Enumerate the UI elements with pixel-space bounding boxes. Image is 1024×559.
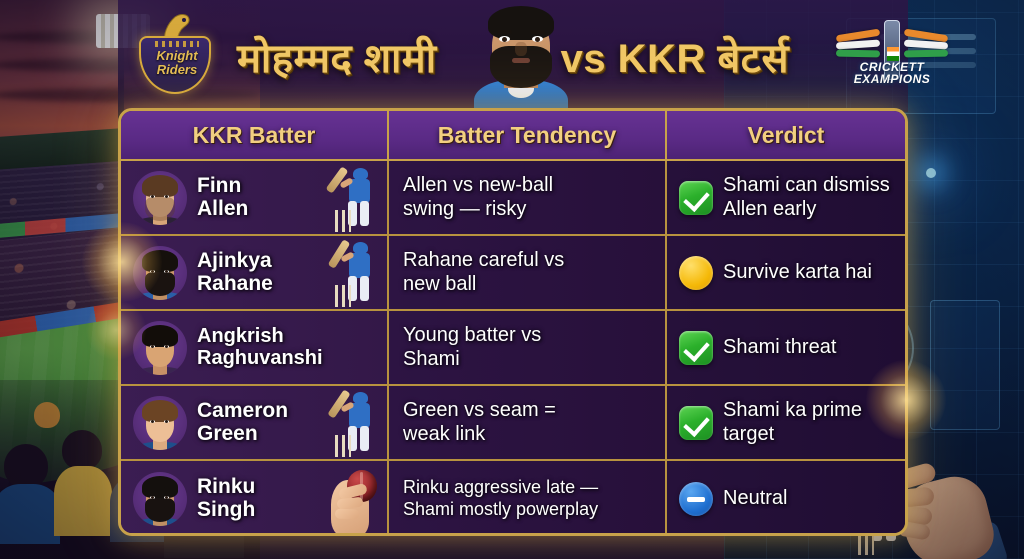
batter-name: Rinku Singh — [197, 476, 255, 521]
tendency-line-1: Allen vs new-ball — [403, 174, 553, 196]
batter-cell: Angkrish Raghuvanshi — [121, 311, 387, 384]
kkr-shield: Knight Riders — [139, 36, 211, 94]
mouth — [512, 58, 530, 63]
hud-panel — [930, 300, 1000, 430]
batsman-icon — [333, 237, 379, 307]
batter-first-name: Rinku — [197, 475, 255, 498]
batter-name: Finn Allen — [197, 175, 248, 220]
batter-name: Ajinkya Rahane — [197, 250, 273, 295]
verdict-line-1: Neutral — [723, 487, 787, 509]
column-header-verdict: Verdict — [667, 111, 905, 159]
spectator-shirt — [0, 484, 60, 544]
hud-glow-node — [926, 168, 936, 178]
batter-cell: Finn Allen — [121, 161, 387, 234]
champions-logo-line2: EXAMPIONS — [836, 72, 948, 86]
india-flag-icon — [887, 47, 899, 61]
kkr-dot-row — [155, 41, 199, 47]
tendency-line-1: Young batter vs — [403, 324, 541, 346]
batsman-icon — [333, 387, 379, 457]
spectator-shirt — [54, 466, 112, 536]
column-header-tendency: Batter Tendency — [387, 111, 667, 159]
infographic-canvas: Knight Riders — [0, 0, 1024, 559]
green-check-icon — [679, 181, 713, 215]
tendency-cell: Rinku aggressive late — Shami mostly pow… — [387, 461, 667, 536]
verdict-text: Shami threat — [723, 336, 836, 360]
avatar — [133, 321, 187, 375]
tendency-line-2: weak link — [403, 423, 485, 445]
shami-portrait — [462, 0, 580, 112]
spectator-head — [34, 402, 60, 428]
table-row: Rinku Singh Rinku aggressive late — Sham… — [121, 461, 905, 536]
kkr-logo: Knight Riders — [129, 12, 221, 100]
table-row: Finn Allen Allen vs new-ball swing — ris… — [121, 161, 905, 236]
batter-first-name: Angkrish — [197, 325, 284, 347]
verdict-cell: Neutral — [667, 461, 905, 536]
hand-holding-ball-icon — [327, 464, 385, 536]
column-header-batter: KKR Batter — [121, 111, 387, 159]
verdict-cell: Shami threat — [667, 311, 905, 384]
batter-name: Cameron Green — [197, 400, 288, 445]
tendency-line-2: new ball — [403, 273, 476, 295]
hair — [488, 6, 554, 40]
verdict-line-2: target — [723, 423, 774, 445]
table-header-row: KKR Batter Batter Tendency Verdict — [121, 111, 905, 161]
batter-last-name: Allen — [197, 197, 248, 220]
batter-name: Angkrish Raghuvanshi — [197, 326, 323, 369]
tendency-text: Rinku aggressive late — Shami mostly pow… — [403, 477, 598, 519]
tendency-cell: Green vs seam = weak link — [387, 386, 667, 459]
batter-first-name: Ajinkya — [197, 249, 272, 272]
verdict-cell: Shami can dismiss Allen early — [667, 161, 905, 234]
batter-cell: Ajinkya Rahane — [121, 236, 387, 309]
verdict-line-1: Shami threat — [723, 336, 836, 358]
table-row: Ajinkya Rahane Rahane careful vs new bal… — [121, 236, 905, 311]
tendency-cell: Allen vs new-ball swing — risky — [387, 161, 667, 234]
tendency-text: Young batter vs Shami — [403, 324, 541, 371]
tendency-text: Allen vs new-ball swing — risky — [403, 174, 553, 221]
table-row: Angkrish Raghuvanshi Young batter vs Sha… — [121, 311, 905, 386]
cricket-champions-logo: CRICKETT EXAMPIONS — [836, 12, 948, 98]
batter-last-name: Green — [197, 422, 258, 445]
verdict-line-2: Allen early — [723, 198, 816, 220]
tendency-cell: Rahane careful vs new ball — [387, 236, 667, 309]
avatar — [133, 246, 187, 300]
tendency-line-1: Green vs seam = — [403, 399, 556, 421]
batter-last-name: Raghuvanshi — [197, 347, 323, 369]
blue-minus-icon — [679, 482, 713, 516]
yellow-circle-icon — [679, 256, 713, 290]
avatar — [133, 472, 187, 526]
verdict-text: Survive karta hai — [723, 261, 872, 285]
tendency-line-2: Shami mostly powerplay — [403, 499, 598, 519]
avatar — [133, 171, 187, 225]
batter-first-name: Finn — [197, 174, 241, 197]
table-row: Cameron Green Green vs seam = weak link — [121, 386, 905, 461]
verdict-text: Shami can dismiss Allen early — [723, 174, 890, 221]
tendency-line-1: Rahane careful vs — [403, 249, 564, 271]
tendency-line-2: Shami — [403, 348, 460, 370]
green-check-icon — [679, 331, 713, 365]
kkr-logo-line1: Knight — [141, 48, 213, 63]
tendency-text: Green vs seam = weak link — [403, 399, 556, 446]
header-banner: Knight Riders — [0, 0, 1024, 112]
verdict-text: Shami ka prime target — [723, 399, 862, 446]
batter-first-name: Cameron — [197, 399, 288, 422]
eyebrow — [497, 30, 512, 34]
verdict-cell: Survive karta hai — [667, 236, 905, 309]
tendency-line-2: swing — risky — [403, 198, 526, 220]
eye — [499, 36, 510, 42]
batter-cell: Cameron Green — [121, 386, 387, 459]
verdict-cell: Shami ka prime target — [667, 386, 905, 459]
tendency-text: Rahane careful vs new ball — [403, 249, 564, 296]
eye — [532, 36, 543, 42]
verdict-line-1: Shami can dismiss — [723, 174, 890, 196]
batsman-icon — [333, 162, 379, 232]
green-check-icon — [679, 406, 713, 440]
left-wing-icon — [836, 32, 880, 62]
batter-last-name: Rahane — [197, 272, 273, 295]
spectator-head — [62, 430, 102, 470]
tendency-line-1: Rinku aggressive late — — [403, 477, 598, 497]
spectator-head — [4, 444, 48, 488]
right-wing-icon — [904, 32, 948, 62]
avatar — [133, 396, 187, 450]
verdict-text: Neutral — [723, 487, 787, 511]
comparison-table: KKR Batter Batter Tendency Verdict Finn … — [118, 108, 908, 536]
batter-cell: Rinku Singh — [121, 461, 387, 536]
tendency-cell: Young batter vs Shami — [387, 311, 667, 384]
kkr-logo-line2: Riders — [141, 62, 213, 77]
verdict-line-1: Survive karta hai — [723, 261, 872, 283]
batter-last-name: Singh — [197, 498, 255, 521]
nose — [515, 42, 527, 56]
verdict-line-1: Shami ka prime — [723, 399, 862, 421]
eyebrow — [530, 30, 545, 34]
